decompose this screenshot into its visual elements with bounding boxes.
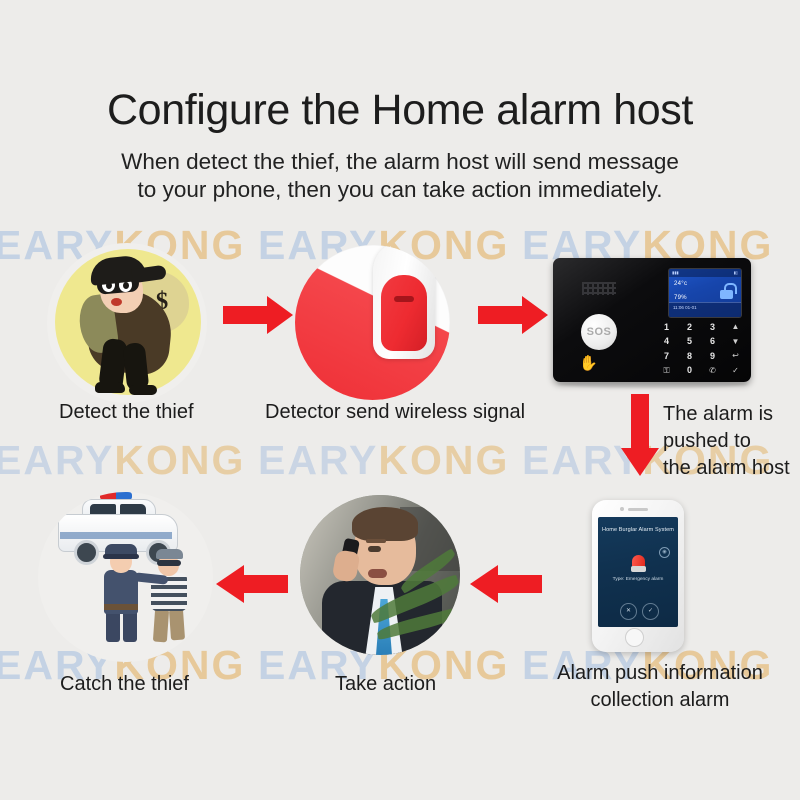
keypad-back-icon[interactable]: ↩ bbox=[732, 352, 739, 360]
keypad-key-4[interactable]: 4 bbox=[664, 337, 669, 346]
keypad-key-3[interactable]: 3 bbox=[710, 323, 715, 332]
arrow-phone-to-man-icon bbox=[470, 565, 542, 603]
page-subtitle: When detect the thief, the alarm host wi… bbox=[0, 148, 800, 204]
speaker-grille-icon bbox=[582, 282, 616, 295]
caption-alarm-pushed-to-host: The alarm is pushed to the alarm host bbox=[663, 401, 790, 482]
alarm-host-lcd-screen: ▮▮▮ ▮▯ 24°c 79% 11:06 01-01 bbox=[669, 269, 741, 317]
watermark-part-a: EARY bbox=[0, 437, 114, 483]
thief-cap bbox=[156, 549, 183, 559]
app-alarm-status: Type: Emergency alarm bbox=[598, 577, 678, 582]
police-officer-leg bbox=[123, 610, 137, 642]
unlock-icon bbox=[720, 283, 733, 299]
eye-icon[interactable]: ◉ bbox=[659, 547, 670, 558]
watermark: EARYKONG bbox=[258, 437, 509, 484]
thief-pupil bbox=[123, 282, 129, 289]
unlock-icon-body bbox=[720, 290, 733, 299]
caption-catch-thief: Catch the thief bbox=[60, 672, 189, 697]
keypad-up-arrow-icon[interactable]: ▲ bbox=[732, 323, 740, 331]
caption-detect-thief: Detect the thief bbox=[59, 400, 194, 425]
keypad-call-icon[interactable]: ✆ bbox=[709, 367, 716, 375]
app-title: Home Burglar Alarm System bbox=[598, 527, 678, 533]
keypad-key-6[interactable]: 6 bbox=[710, 337, 715, 346]
thief-leg bbox=[153, 609, 169, 643]
front-camera-icon bbox=[620, 507, 624, 511]
keypad-confirm-icon[interactable]: ✓ bbox=[732, 367, 739, 375]
police-officer-hat-brim bbox=[103, 554, 139, 559]
pir-detector-lens bbox=[381, 275, 427, 351]
keypad-key-9[interactable]: 9 bbox=[710, 352, 715, 361]
subtitle-line-1: When detect the thief, the alarm host wi… bbox=[0, 148, 800, 176]
man-mouth bbox=[368, 569, 387, 578]
earpiece-icon bbox=[628, 508, 648, 511]
caption-alarm-push-information: Alarm push information collection alarm bbox=[550, 660, 770, 714]
keypad-key-2[interactable]: 2 bbox=[687, 323, 692, 332]
catch-thief-illustration bbox=[38, 492, 213, 662]
watermark-part-b: KONG bbox=[114, 437, 245, 483]
man-eyebrow bbox=[366, 539, 386, 543]
battery-icon: ▮▯ bbox=[734, 269, 738, 277]
caption-detector-signal: Detector send wireless signal bbox=[265, 400, 525, 425]
alarm-host-keypad[interactable]: 1 2 3 ▲ 4 5 6 ▼ 7 8 9 ↩ ⚿ 0 ✆ ✓ bbox=[655, 320, 747, 378]
alarm-host-panel: SOS ✋ ▮▮▮ ▮▯ 24°c 79% 11:06 01-01 1 2 3 bbox=[553, 258, 751, 382]
sos-button[interactable]: SOS bbox=[581, 314, 617, 350]
thief-shoe bbox=[129, 385, 157, 395]
subtitle-line-2: to your phone, then you can take action … bbox=[0, 176, 800, 204]
arrow-host-to-phone-icon bbox=[621, 394, 659, 476]
arrow-detector-to-host-icon bbox=[478, 296, 548, 334]
keypad-key-7[interactable]: 7 bbox=[664, 352, 669, 361]
arrow-man-to-police-icon bbox=[216, 565, 288, 603]
thief-eye-mask bbox=[157, 560, 181, 566]
phone-screen[interactable]: Home Burglar Alarm System ◉ Type: Emerge… bbox=[598, 517, 678, 627]
thief-leg bbox=[169, 609, 185, 641]
keypad-key-8[interactable]: 8 bbox=[687, 352, 692, 361]
page-title: Configure the Home alarm host bbox=[0, 86, 800, 135]
man-on-phone-illustration bbox=[300, 495, 460, 655]
police-officer-leg bbox=[106, 610, 120, 642]
arrow-thief-to-detector-icon bbox=[223, 296, 293, 334]
thief-shoe bbox=[95, 382, 125, 393]
police-car-stripe bbox=[60, 532, 172, 539]
police-officer-belt bbox=[104, 604, 138, 610]
keypad-key-0[interactable]: 0 bbox=[687, 366, 692, 375]
rfid-card-swipe-icon: ✋ bbox=[579, 355, 619, 372]
smartphone-illustration: Home Burglar Alarm System ◉ Type: Emerge… bbox=[592, 500, 684, 652]
signal-icon: ▮▮▮ bbox=[672, 269, 679, 277]
lcd-humidity: 79% bbox=[674, 295, 687, 301]
keypad-key-5[interactable]: 5 bbox=[687, 337, 692, 346]
thief-illustration: $ bbox=[47, 243, 207, 403]
caption-take-action: Take action bbox=[335, 672, 436, 697]
man-hair bbox=[352, 507, 418, 541]
pir-detector-led bbox=[394, 296, 414, 302]
keypad-down-arrow-icon[interactable]: ▼ bbox=[732, 338, 740, 346]
man-eye bbox=[368, 546, 381, 552]
app-confirm-button[interactable]: ✓ bbox=[642, 603, 659, 620]
alarm-host-illustration: SOS ✋ ▮▮▮ ▮▯ 24°c 79% 11:06 01-01 1 2 3 bbox=[553, 258, 751, 388]
watermark-part-a: EARY bbox=[258, 437, 378, 483]
watermark-part-b: KONG bbox=[378, 437, 509, 483]
thief-mouth bbox=[111, 298, 122, 306]
siren-base bbox=[631, 566, 646, 572]
watermark: EARYKONG bbox=[0, 437, 245, 484]
home-button[interactable] bbox=[625, 628, 644, 647]
keypad-lock-arm-icon[interactable]: ⚿ bbox=[663, 367, 669, 375]
app-dismiss-button[interactable]: ✕ bbox=[620, 603, 637, 620]
lcd-status-bar: ▮▮▮ ▮▯ bbox=[669, 269, 741, 277]
lcd-footer: 11:06 01-01 bbox=[669, 302, 741, 317]
keypad-key-1[interactable]: 1 bbox=[664, 323, 669, 332]
lcd-temperature: 24°c bbox=[674, 281, 687, 287]
police-car-wheel bbox=[74, 540, 99, 565]
detector-illustration bbox=[295, 245, 450, 400]
infographic-poster: EARYKONG EARYKONG EARYKONG EARYKONG EARY… bbox=[0, 0, 800, 800]
alarm-siren-icon bbox=[631, 555, 646, 573]
